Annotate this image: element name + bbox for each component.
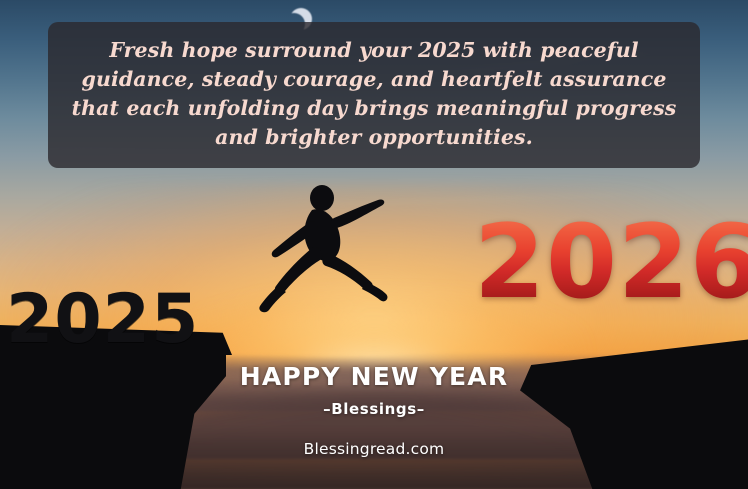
signature-text: –Blessings– [0,400,748,418]
greeting-text: HAPPY NEW YEAR [0,362,748,391]
quote-banner: Fresh hope surround your 2025 with peace… [48,22,700,168]
new-year-greeting-image: 2025 2026 Fresh [0,0,748,489]
year-new-label: 2026 [474,212,748,314]
quote-text: Fresh hope surround your 2025 with peace… [66,36,682,152]
year-old-label: 2025 [6,286,199,354]
watermark-text: Blessingread.com [0,440,748,458]
jumping-person-silhouette [238,178,408,338]
